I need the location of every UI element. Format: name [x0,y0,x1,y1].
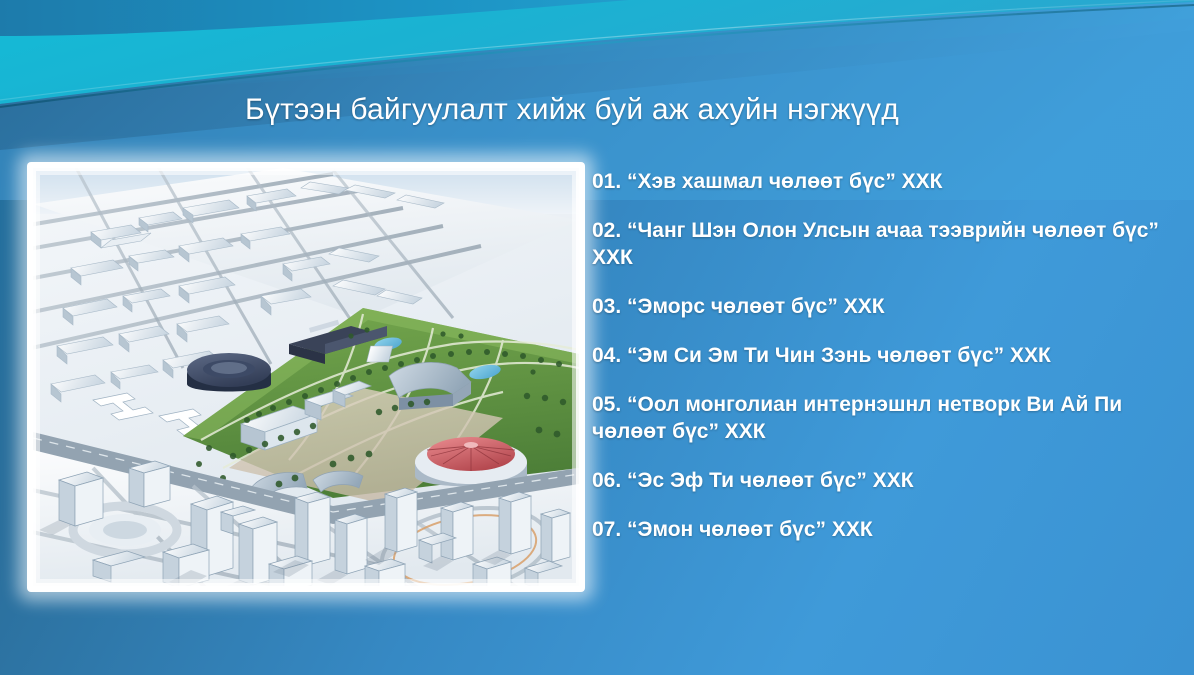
company-list: 01. “Хэв хашмал чөлөөт бүс” ХХК 02. “Чан… [592,168,1172,543]
list-item: 07. “Эмон чөлөөт бүс” ХХК [592,516,1172,544]
list-item: 05. “Оол монголиан интернэшнл нетворк Ви… [592,391,1172,446]
presentation-slide: Бүтээн байгуулалт хийж буй аж ахуйн нэгж… [0,0,1194,675]
masterplan-image [33,168,579,586]
masterplan-image-frame [27,162,585,592]
list-item: 06. “Эс Эф Ти чөлөөт бүс” ХХК [592,467,1172,495]
list-item: 02. “Чанг Шэн Олон Улсын ачаа тээврийн ч… [592,217,1172,272]
slide-title: Бүтээн байгуулалт хийж буй аж ахуйн нэгж… [245,93,1045,127]
list-item: 04. “Эм Си Эм Ти Чин Зэнь чөлөөт бүс” ХХ… [592,342,1172,370]
list-item: 01. “Хэв хашмал чөлөөт бүс” ХХК [592,168,1172,196]
list-item: 03. “Эморс чөлөөт бүс” ХХК [592,293,1172,321]
